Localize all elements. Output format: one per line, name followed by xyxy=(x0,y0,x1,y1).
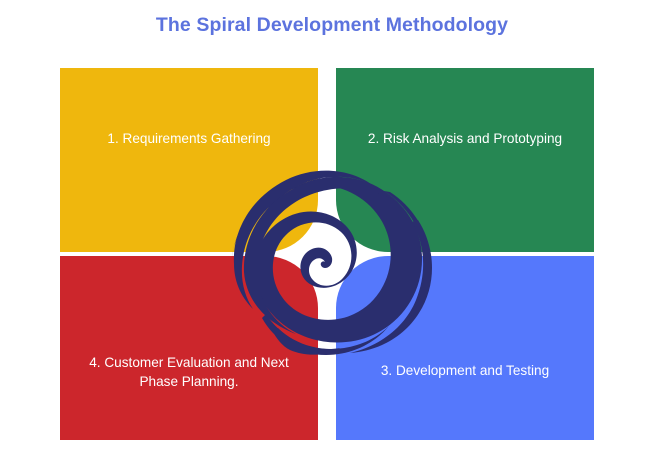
quadrant-label: 1. Requirements Gathering xyxy=(107,129,270,148)
quadrant-requirements-gathering[interactable]: 1. Requirements Gathering xyxy=(60,68,318,252)
quadrant-label: 3. Development and Testing xyxy=(381,361,549,380)
quadrant-risk-analysis-prototyping[interactable]: 2. Risk Analysis and Prototyping xyxy=(336,68,594,252)
quadrant-label: 2. Risk Analysis and Prototyping xyxy=(368,129,562,148)
quadrant-customer-evaluation[interactable]: 4. Customer Evaluation and Next Phase Pl… xyxy=(60,256,318,440)
page-title: The Spiral Development Methodology xyxy=(0,14,664,37)
quadrant-label: 4. Customer Evaluation and Next Phase Pl… xyxy=(89,353,288,391)
quadrant-development-testing[interactable]: 3. Development and Testing xyxy=(336,256,594,440)
spiral-methodology-infographic: The Spiral Development Methodology 1. Re… xyxy=(0,0,664,468)
quadrant-grid: 1. Requirements Gathering 2. Risk Analys… xyxy=(60,68,594,440)
